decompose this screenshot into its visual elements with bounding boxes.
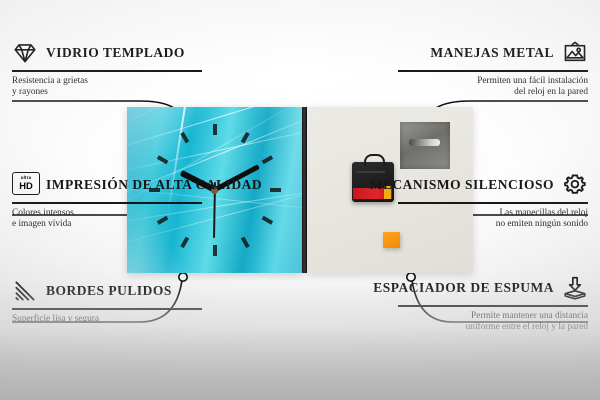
feature-rule (12, 202, 202, 204)
feature-rule (12, 308, 202, 310)
feature-title: ESPACIADOR DE ESPUMA (373, 281, 554, 296)
diagonal-stripes-icon (12, 278, 38, 304)
feature-description: Superficie lisa y segura (12, 314, 202, 325)
mechanism-detail (356, 171, 385, 173)
picture-frame-icon (562, 40, 588, 66)
hanger-slot (409, 139, 440, 146)
feature-mecanismo-silencioso: MECANISMO SILENCIOSO Las manecillas del … (398, 172, 588, 230)
ultra-hd-icon: ultra HD (12, 172, 38, 198)
diamond-icon (12, 40, 38, 66)
feature-manejas-metal: MANEJAS METAL Permiten una fácil instala… (398, 40, 588, 98)
feature-impresion-alta-calidad: ultra HD IMPRESIÓN DE ALTA CALIDAD Color… (12, 172, 202, 230)
foam-spacer (383, 232, 400, 248)
feature-description: Colores intensos e imagen vívida (12, 208, 202, 231)
feature-rule (12, 70, 202, 72)
infographic-canvas: VIDRIO TEMPLADO Resistencia a grietas y … (0, 0, 600, 400)
metal-hanger-plate (400, 122, 450, 169)
gear-icon (562, 172, 588, 198)
arrow-down-pad-icon (562, 275, 588, 301)
feature-title: BORDES PULIDOS (46, 284, 172, 299)
mechanism-bail (364, 154, 385, 166)
feature-rule (398, 305, 588, 307)
feature-rule (398, 70, 588, 72)
ultra-hd-icon-main: HD (19, 181, 33, 190)
feature-espaciador-espuma: ESPACIADOR DE ESPUMA Permite mantener un… (398, 275, 588, 333)
feature-title: IMPRESIÓN DE ALTA CALIDAD (46, 178, 262, 193)
feature-title: VIDRIO TEMPLADO (46, 46, 185, 61)
feature-description: Permiten una fácil instalación del reloj… (398, 76, 588, 99)
feature-bordes-pulidos: BORDES PULIDOS Superficie lisa y segura (12, 278, 202, 325)
feature-rule (398, 202, 588, 204)
feature-description: Resistencia a grietas y rayones (12, 76, 202, 99)
feature-vidrio-templado: VIDRIO TEMPLADO Resistencia a grietas y … (12, 40, 202, 98)
feature-description: Permite mantener una distancia uniforme … (398, 311, 588, 334)
feature-description: Las manecillas del reloj no emiten ningú… (398, 208, 588, 231)
feature-title: MANEJAS METAL (430, 46, 554, 61)
feature-title: MECANISMO SILENCIOSO (370, 178, 554, 193)
